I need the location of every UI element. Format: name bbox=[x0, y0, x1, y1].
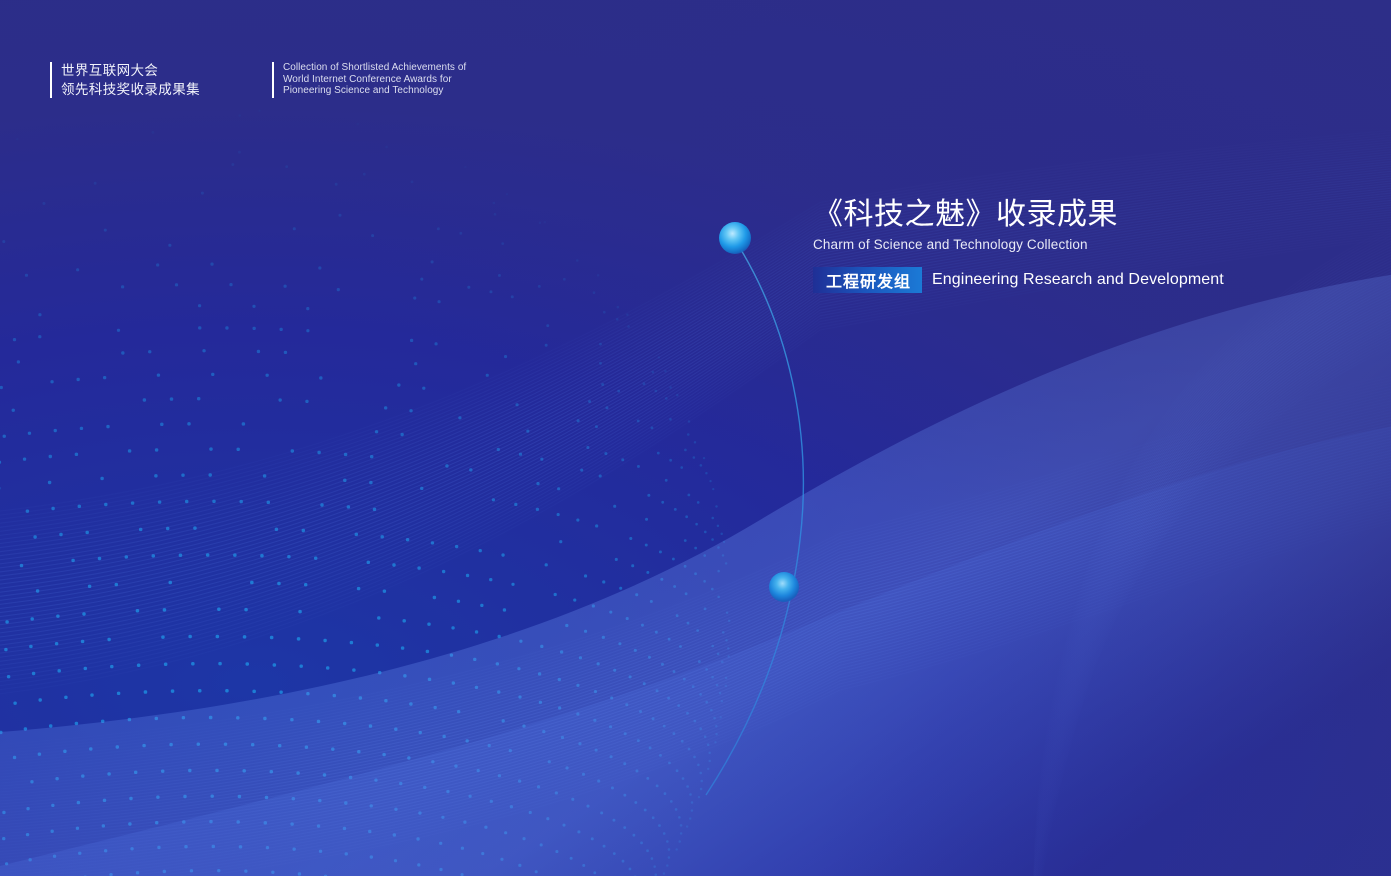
background-gradient bbox=[0, 0, 1391, 876]
dotted-globe-svg bbox=[0, 60, 820, 876]
masthead: 世界互联网大会 领先科技奖收录成果集 Collection of Shortli… bbox=[50, 62, 466, 99]
upper-node-icon bbox=[719, 222, 751, 254]
lower-node-core bbox=[769, 572, 799, 602]
masthead-en-line1: Collection of Shortlisted Achievements o… bbox=[283, 62, 466, 74]
upper-node-core bbox=[719, 222, 751, 254]
background-vignette bbox=[0, 0, 1391, 876]
masthead-en-line2: World Internet Conference Awards for bbox=[283, 74, 466, 86]
wave-line-bundle-right bbox=[1033, 200, 1391, 876]
masthead-en-text: Collection of Shortlisted Achievements o… bbox=[283, 62, 466, 97]
group-badge-en-label: Engineering Research and Development bbox=[932, 271, 1224, 289]
arc-connector-line bbox=[706, 240, 803, 795]
masthead-en-rule bbox=[272, 62, 274, 98]
page-title: 《科技之魅》收录成果 bbox=[813, 196, 1333, 234]
masthead-en-line3: Pioneering Science and Technology bbox=[283, 85, 466, 97]
wave-sheen-bottom bbox=[0, 418, 1391, 876]
lower-node-icon bbox=[769, 572, 799, 602]
wave-sheen-lower bbox=[0, 268, 1391, 876]
group-badge: 工程研发组 bbox=[813, 267, 922, 293]
masthead-cn-line1: 世界互联网大会 bbox=[61, 62, 200, 81]
title-block: 《科技之魅》收录成果 Charm of Science and Technolo… bbox=[813, 196, 1333, 293]
wave-line-bundle-lower bbox=[0, 362, 1391, 876]
poster-page: 世界互联网大会 领先科技奖收录成果集 Collection of Shortli… bbox=[0, 0, 1391, 876]
masthead-cn-text: 世界互联网大会 领先科技奖收录成果集 bbox=[61, 62, 200, 99]
masthead-cn-line2: 领先科技奖收录成果集 bbox=[61, 81, 200, 100]
flowing-wave-ribbons bbox=[0, 0, 1391, 876]
dotted-globe bbox=[0, 60, 820, 876]
page-subtitle: Charm of Science and Technology Collecti… bbox=[813, 236, 1333, 253]
group-row: 工程研发组 Engineering Research and Developme… bbox=[813, 267, 1224, 293]
masthead-en-block: Collection of Shortlisted Achievements o… bbox=[272, 62, 466, 98]
masthead-cn-rule bbox=[50, 62, 52, 98]
